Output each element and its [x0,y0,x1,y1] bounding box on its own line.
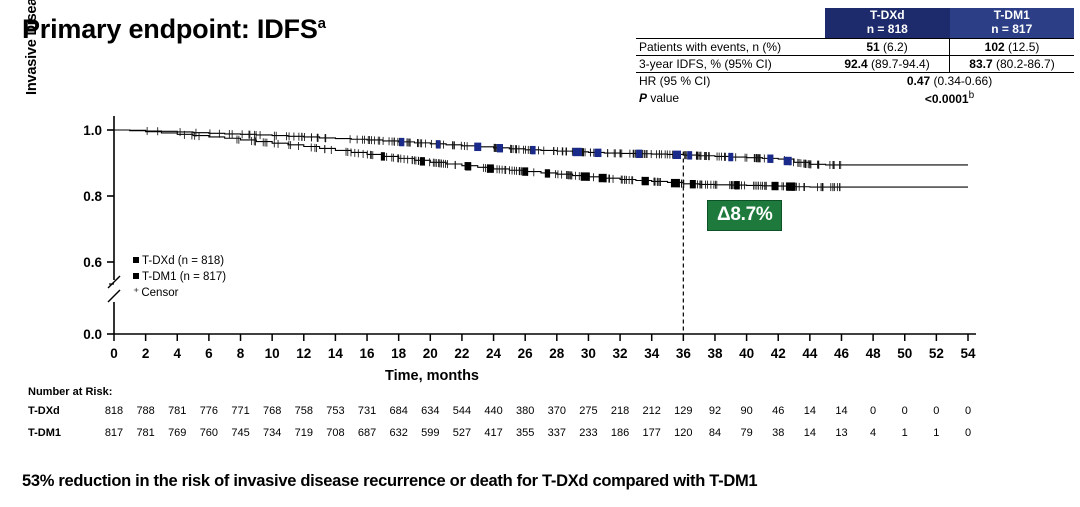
plus-marker-icon: ⁺ [133,285,139,301]
number-at-risk-value: 46 [765,405,791,417]
number-at-risk-row-label: T-DM1 [28,427,61,439]
number-at-risk-value: 719 [291,427,317,439]
number-at-risk-value: 355 [512,427,538,439]
number-at-risk-value: 4 [860,427,886,439]
number-at-risk-value: 0 [860,405,886,417]
legend-label: T-DXd (n = 818) [142,255,224,267]
y-axis-tick-label: 1.0 [83,123,102,138]
x-axis-tick-label: 46 [834,346,850,361]
number-at-risk-value: 380 [512,405,538,417]
number-at-risk-value: 776 [196,405,222,417]
number-at-risk-value: 233 [575,427,601,439]
x-axis-tick-label: 26 [518,346,534,361]
number-at-risk-value: 817 [101,427,127,439]
x-axis-tick-label: 40 [739,346,754,361]
square-marker-icon [133,273,139,279]
number-at-risk-value: 337 [544,427,570,439]
number-at-risk-value: 0 [955,405,981,417]
x-axis-tick-label: 44 [802,346,818,361]
number-at-risk-value: 684 [386,405,412,417]
x-axis-tick-label: 18 [391,346,407,361]
number-at-risk-value: 788 [133,405,159,417]
x-axis-tick-label: 48 [866,346,882,361]
number-at-risk-value: 14 [797,427,823,439]
number-at-risk-value: 818 [101,405,127,417]
number-at-risk-value: 79 [734,427,760,439]
number-at-risk-value: 734 [259,427,285,439]
number-at-risk-value: 687 [354,427,380,439]
number-at-risk-value: 527 [449,427,475,439]
x-axis-tick-label: 16 [360,346,376,361]
x-axis-tick-label: 28 [549,346,565,361]
number-at-risk-value: 90 [734,405,760,417]
curve-tdxd [114,127,968,169]
x-axis-tick-label: 52 [929,346,944,361]
chart-legend: T-DXd (n = 818) T-DM1 (n = 817) ⁺Censor [133,254,226,302]
number-at-risk-value: 544 [449,405,475,417]
number-at-risk-value: 14 [797,405,823,417]
number-at-risk-value: 38 [765,427,791,439]
number-at-risk-value: 0 [892,405,918,417]
number-at-risk-value: 781 [133,427,159,439]
footer-conclusion: 53% reduction in the risk of invasive di… [22,472,757,491]
x-axis-tick-label: 36 [676,346,692,361]
number-at-risk-value: 1 [892,427,918,439]
number-at-risk-value: 0 [955,427,981,439]
x-axis-tick-label: 38 [707,346,723,361]
number-at-risk-value: 708 [322,427,348,439]
number-at-risk-value: 186 [607,427,633,439]
number-at-risk-value: 0 [923,405,949,417]
number-at-risk-value: 212 [639,405,665,417]
x-axis-tick-label: 2 [142,346,150,361]
number-at-risk-value: 1 [923,427,949,439]
number-at-risk-value: 632 [386,427,412,439]
legend-label: Censor [141,287,178,299]
square-marker-icon [133,257,139,263]
number-at-risk-row-label: T-DXd [28,405,60,417]
legend-item-tdxd: T-DXd (n = 818) [133,254,226,270]
y-axis-tick-label: 0.0 [83,327,102,342]
number-at-risk-value: 275 [575,405,601,417]
x-axis-tick-label: 12 [296,346,311,361]
x-axis-tick-label: 14 [328,346,344,361]
number-at-risk-value: 753 [322,405,348,417]
number-at-risk-value: 634 [417,405,443,417]
x-axis-tick-label: 22 [454,346,469,361]
number-at-risk-value: 120 [670,427,696,439]
x-axis-tick-label: 8 [237,346,245,361]
x-axis-tick-label: 20 [423,346,438,361]
number-at-risk-value: 177 [639,427,665,439]
number-at-risk-value: 129 [670,405,696,417]
number-at-risk-value: 417 [481,427,507,439]
number-at-risk-value: 760 [196,427,222,439]
x-axis-label: Time, months [385,368,479,384]
y-axis-tick-label: 0.6 [83,255,102,270]
x-axis-tick-label: 34 [644,346,660,361]
x-axis-tick-label: 0 [110,346,118,361]
number-at-risk-value: 781 [164,405,190,417]
number-at-risk-value: 370 [544,405,570,417]
curve-tdm1 [114,130,968,191]
number-at-risk-value: 84 [702,427,728,439]
x-axis-tick-label: 4 [174,346,182,361]
number-at-risk-value: 218 [607,405,633,417]
x-axis-tick-label: 42 [771,346,786,361]
kaplan-meier-plot: 1.00.80.60.00246810121416182022242628303… [0,0,1080,400]
x-axis-tick-label: 30 [581,346,596,361]
delta-annotation-badge: Δ8.7% [707,200,782,231]
legend-label: T-DM1 (n = 817) [142,271,226,283]
number-at-risk-value: 769 [164,427,190,439]
number-at-risk-value: 731 [354,405,380,417]
x-axis-tick-label: 10 [265,346,280,361]
legend-item-censor: ⁺Censor [133,285,226,302]
x-axis-tick-label: 6 [205,346,213,361]
number-at-risk-value: 599 [417,427,443,439]
number-at-risk-value: 758 [291,405,317,417]
x-axis-tick-label: 32 [613,346,628,361]
number-at-risk-value: 13 [828,427,854,439]
number-at-risk-value: 771 [228,405,254,417]
x-axis-tick-label: 54 [960,346,976,361]
x-axis-tick-label: 24 [486,346,502,361]
legend-item-tdm1: T-DM1 (n = 817) [133,270,226,286]
y-axis-tick-label: 0.8 [83,189,102,204]
x-axis-tick-label: 50 [897,346,912,361]
slide: Primary endpoint: IDFSa T-DXd n = 818 T-… [0,0,1080,507]
number-at-risk-title: Number at Risk: [28,386,112,398]
number-at-risk-value: 745 [228,427,254,439]
number-at-risk-value: 768 [259,405,285,417]
number-at-risk-value: 14 [828,405,854,417]
number-at-risk-value: 440 [481,405,507,417]
number-at-risk-value: 92 [702,405,728,417]
